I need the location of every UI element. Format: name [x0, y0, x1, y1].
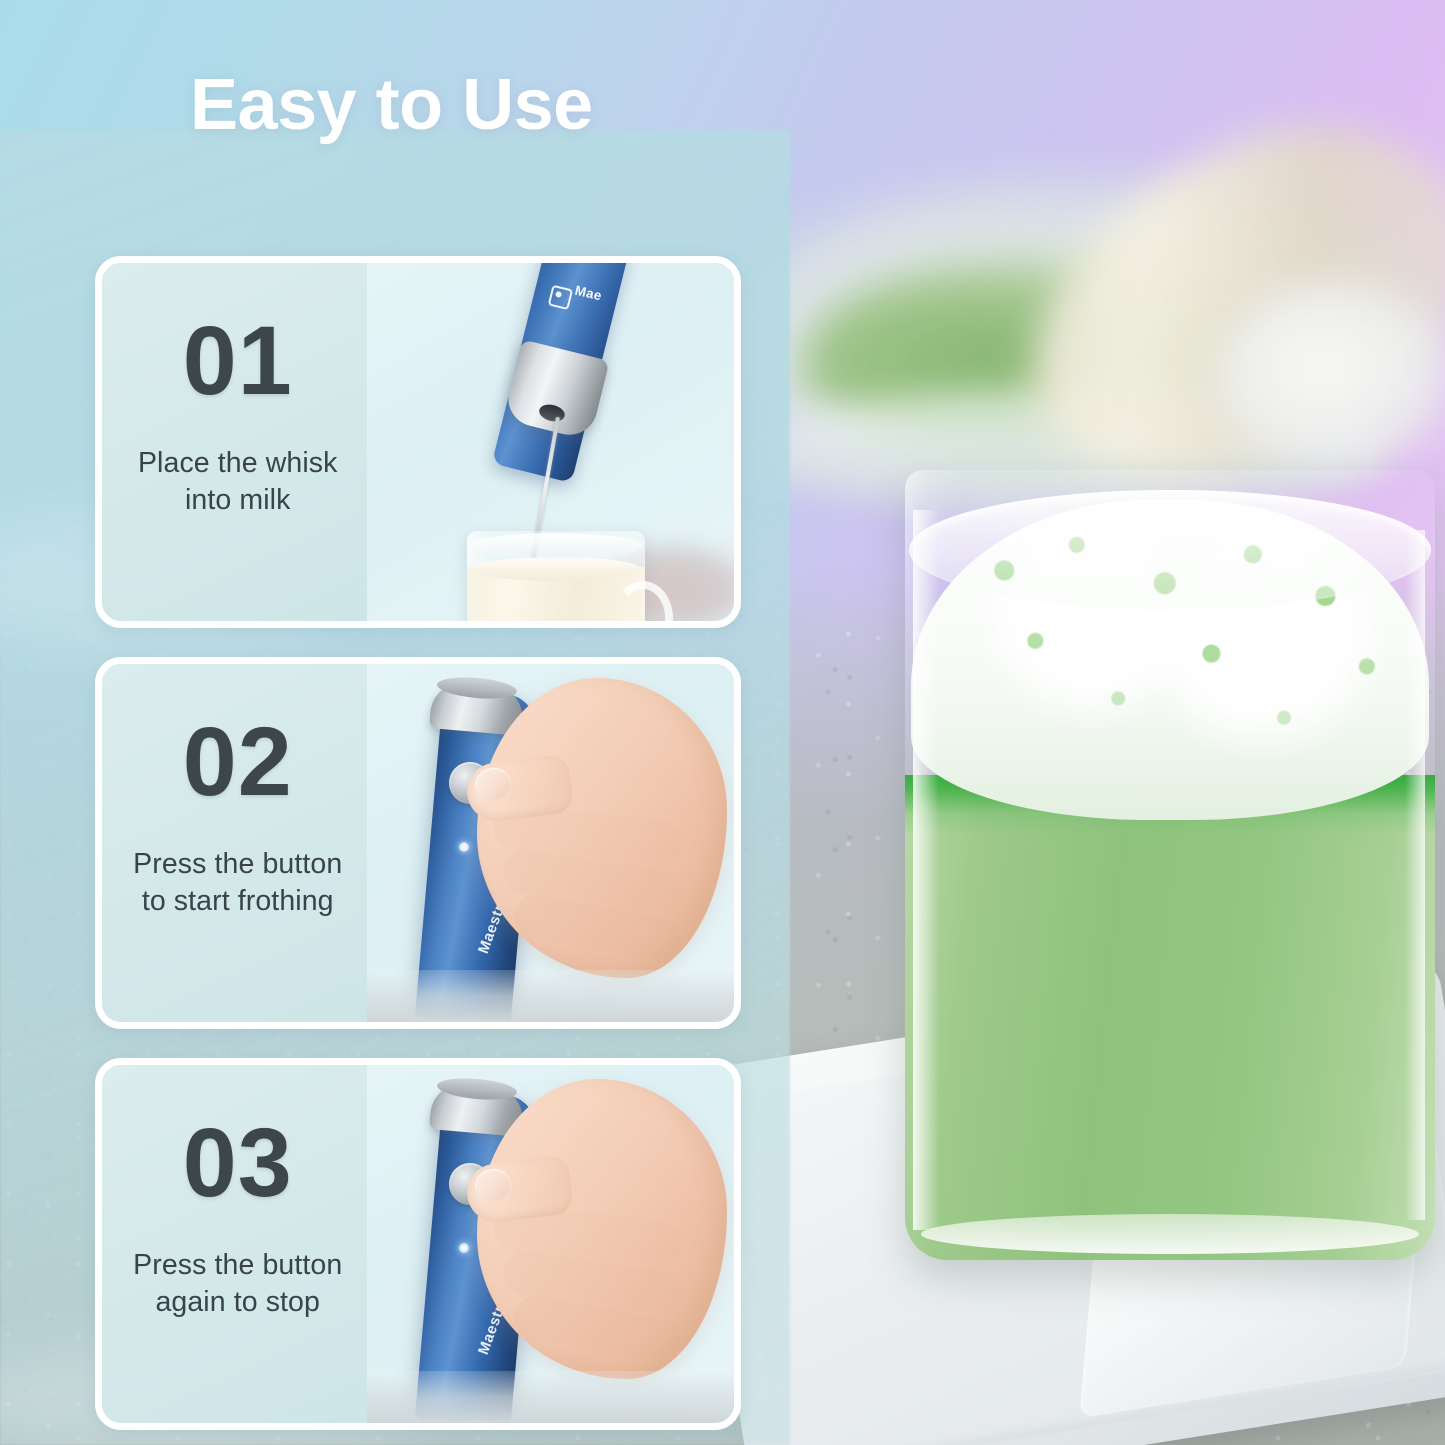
blurred-spoon-bowl	[1215, 282, 1445, 472]
step-01-number: 01	[183, 315, 293, 407]
step-02-image: Maestri House	[367, 664, 734, 1022]
step-03-image: Maestri House	[367, 1065, 734, 1423]
infographic-canvas: Easy to Use 01 Place the whisk into milk…	[0, 0, 1445, 1445]
table-surface	[367, 1371, 734, 1423]
matcha-liquid	[905, 775, 1435, 1260]
step-card-03[interactable]: 03 Press the button again to stop Maestr…	[95, 1058, 741, 1430]
brand-label-short: Mae	[574, 283, 604, 304]
step-01-description: Place the whisk into milk	[124, 445, 351, 519]
step-02-description: Press the button to start frothing	[124, 846, 351, 920]
foam-rim	[909, 490, 1431, 610]
step-03-text-panel: 03 Press the button again to stop	[102, 1065, 367, 1423]
milk-glass-rim	[469, 533, 643, 559]
glass-highlight-left	[913, 510, 939, 1230]
step-03-number: 03	[183, 1117, 293, 1209]
steps-list: 01 Place the whisk into milk Mae	[95, 256, 741, 1445]
milk-surface	[471, 557, 641, 581]
page-title: Easy to Use	[190, 64, 593, 146]
step-02-text-panel: 02 Press the button to start frothing	[102, 664, 367, 1022]
step-card-02[interactable]: 02 Press the button to start frothing Ma…	[95, 657, 741, 1029]
step-03-description: Press the button again to stop	[124, 1247, 351, 1321]
step-01-text-panel: 01 Place the whisk into milk	[102, 263, 367, 621]
step-01-image: Mae	[367, 263, 734, 621]
matcha-latte-glass	[905, 470, 1435, 1260]
maestri-square-logo-icon	[548, 285, 573, 310]
glass-highlight-right	[1405, 530, 1425, 1220]
step-02-number: 02	[183, 716, 293, 808]
table-surface	[367, 970, 734, 1022]
glass-base	[921, 1214, 1419, 1254]
step-card-01[interactable]: 01 Place the whisk into milk Mae	[95, 256, 741, 628]
